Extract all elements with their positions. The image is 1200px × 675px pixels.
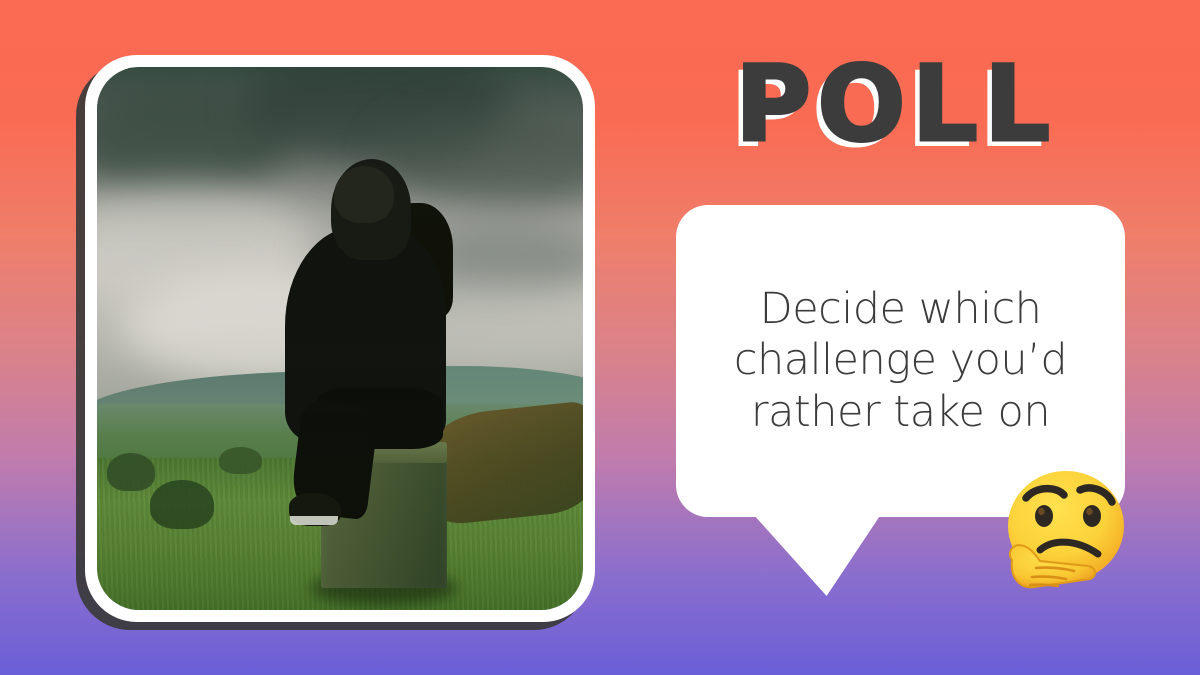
hilltop-photo: [97, 67, 583, 610]
speech-bubble-text: Decide which challenge you’d rather take…: [676, 284, 1125, 439]
photo-card: [85, 55, 595, 622]
seated-person-silhouette: [282, 159, 457, 496]
bush: [219, 447, 263, 474]
shoe-sole: [290, 516, 337, 525]
page-title: POLL: [735, 52, 1056, 156]
poll-graphic-canvas: POLL Decide which challenge you’d rather…: [0, 0, 1200, 675]
bush: [107, 453, 156, 491]
bush: [150, 480, 213, 529]
hood-highlight: [334, 166, 393, 223]
thinking-face-icon: [1000, 468, 1132, 600]
